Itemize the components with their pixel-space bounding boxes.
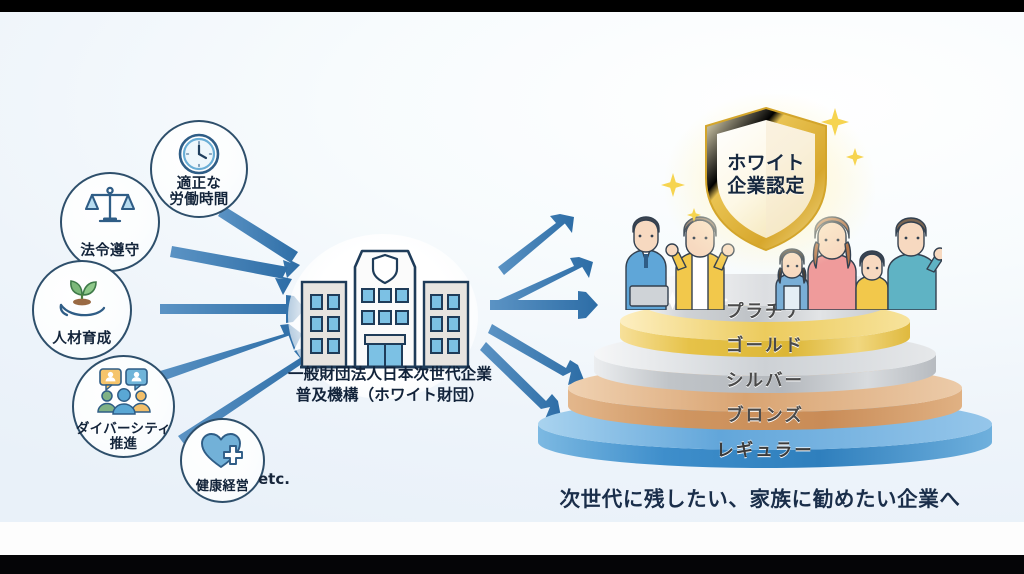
input-item-health[interactable]: 健康経営 (180, 418, 265, 503)
sparkle-icon (820, 107, 850, 137)
podium-label-gold: ゴールド (640, 332, 890, 357)
podium-label-regular: レギュラー (640, 437, 890, 462)
input-item-clock[interactable]: 適正な 労働時間 (150, 120, 248, 218)
heart-plus-icon (199, 429, 247, 471)
scales-icon (84, 183, 136, 231)
podium-label-bronze: ブロンズ (640, 402, 890, 427)
etc-label: etc. (258, 470, 290, 488)
letterbox-bottom (0, 555, 1024, 574)
input-label-health: 健康経営 (196, 480, 249, 495)
input-label-diversity: ダイバーシティ 推進 (76, 422, 171, 452)
input-label-clock: 適正な 労働時間 (169, 176, 228, 208)
input-item-diversity[interactable]: ダイバーシティ 推進 (72, 355, 175, 458)
letterbox-top (0, 0, 1024, 12)
input-item-compliance[interactable]: 法令遵守 (60, 172, 160, 272)
tagline: 次世代に残したい、家族に勧めたい企業へ (540, 482, 980, 512)
input-label-compliance: 法令遵守 (80, 243, 139, 259)
clock-icon (176, 131, 222, 177)
bottom-white-band (0, 522, 1024, 555)
diagram-canvas: 適正な 労働時間 法令遵守 (0, 12, 1024, 522)
people-chat-icon (95, 366, 153, 416)
sparkle-icon (686, 207, 702, 223)
sparkle-icon (845, 147, 865, 167)
input-label-talent: 人材育成 (52, 331, 111, 347)
building-shield-icon (300, 237, 470, 372)
screenshot-stage: 適正な 労働時間 法令遵守 (0, 0, 1024, 574)
podium-label-silver: シルバー (640, 367, 890, 392)
sparkle-icon (660, 172, 686, 198)
sprout-hand-icon (54, 271, 110, 321)
input-item-talent[interactable]: 人材育成 (32, 260, 132, 360)
organization-label: 一般財団法人日本次世代企業 普及機構（ホワイト財団） (270, 364, 510, 406)
badge-text: ホワイト 企業認定 (700, 152, 832, 198)
